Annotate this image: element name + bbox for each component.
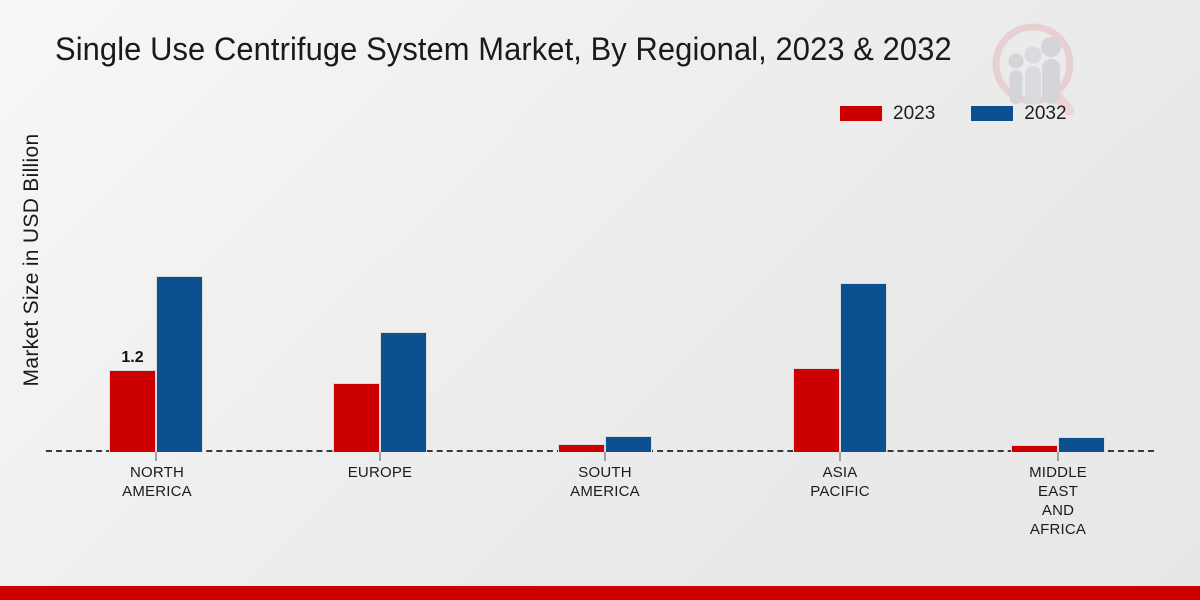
axis-tick-middle-east-and-africa bbox=[1058, 452, 1059, 461]
bar-2032-europe[interactable] bbox=[380, 332, 427, 452]
category-label-line: AMERICA bbox=[57, 482, 257, 501]
bar-group-asia-pacific bbox=[793, 130, 887, 452]
category-label-line: PACIFIC bbox=[740, 482, 940, 501]
category-label-line: SOUTH bbox=[505, 463, 705, 482]
legend-label-2032: 2032 bbox=[1024, 104, 1066, 123]
axis-tick-north-america bbox=[156, 452, 157, 461]
axis-tick-south-america bbox=[605, 452, 606, 461]
axis-tick-asia-pacific bbox=[840, 452, 841, 461]
legend-swatch-2032 bbox=[971, 106, 1013, 121]
category-label-line: EUROPE bbox=[280, 463, 480, 482]
legend-item-2023[interactable]: 2023 bbox=[840, 104, 935, 123]
legend-label-2023: 2023 bbox=[893, 104, 935, 123]
bar-group-middle-east-and-africa bbox=[1011, 130, 1105, 452]
category-label-line: AND bbox=[958, 501, 1158, 520]
plot-area: 1.2 bbox=[46, 130, 1154, 452]
category-label-line: MIDDLE bbox=[958, 463, 1158, 482]
footer-accent-bar bbox=[0, 586, 1200, 600]
y-axis-title: Market Size in USD Billion bbox=[20, 80, 44, 440]
category-label-line: AMERICA bbox=[505, 482, 705, 501]
bar-2023-south-america[interactable] bbox=[558, 444, 605, 452]
category-label-middle-east-and-africa: MIDDLE EAST AND AFRICA bbox=[958, 463, 1158, 539]
bar-2023-europe[interactable] bbox=[333, 383, 380, 452]
legend-swatch-2023 bbox=[840, 106, 882, 121]
legend-item-2032[interactable]: 2032 bbox=[971, 104, 1066, 123]
bar-group-south-america bbox=[558, 130, 652, 452]
chart-legend: 2023 2032 bbox=[840, 104, 1067, 123]
category-label-asia-pacific: ASIA PACIFIC bbox=[740, 463, 940, 501]
bar-2023-asia-pacific[interactable] bbox=[793, 368, 840, 452]
category-label-line: NORTH bbox=[57, 463, 257, 482]
bar-group-europe bbox=[333, 130, 427, 452]
axis-tick-europe bbox=[380, 452, 381, 461]
page-title: Single Use Centrifuge System Market, By … bbox=[55, 31, 952, 68]
category-label-north-america: NORTH AMERICA bbox=[57, 463, 257, 501]
bar-2032-south-america[interactable] bbox=[605, 436, 652, 452]
bar-2023-north-america[interactable] bbox=[109, 370, 156, 452]
bar-2032-middle-east-and-africa[interactable] bbox=[1058, 437, 1105, 452]
category-label-line: EAST bbox=[958, 482, 1158, 501]
category-label-line: ASIA bbox=[740, 463, 940, 482]
bar-2032-north-america[interactable] bbox=[156, 276, 203, 452]
bar-2023-middle-east-and-africa[interactable] bbox=[1011, 445, 1058, 452]
category-label-europe: EUROPE bbox=[280, 463, 480, 482]
bar-value-north-america-2023: 1.2 bbox=[109, 349, 156, 367]
chart-canvas: Single Use Centrifuge System Market, By … bbox=[0, 0, 1200, 600]
category-label-line: AFRICA bbox=[958, 520, 1158, 539]
bar-2032-asia-pacific[interactable] bbox=[840, 283, 887, 452]
bar-group-north-america: 1.2 bbox=[109, 130, 203, 452]
category-label-south-america: SOUTH AMERICA bbox=[505, 463, 705, 501]
